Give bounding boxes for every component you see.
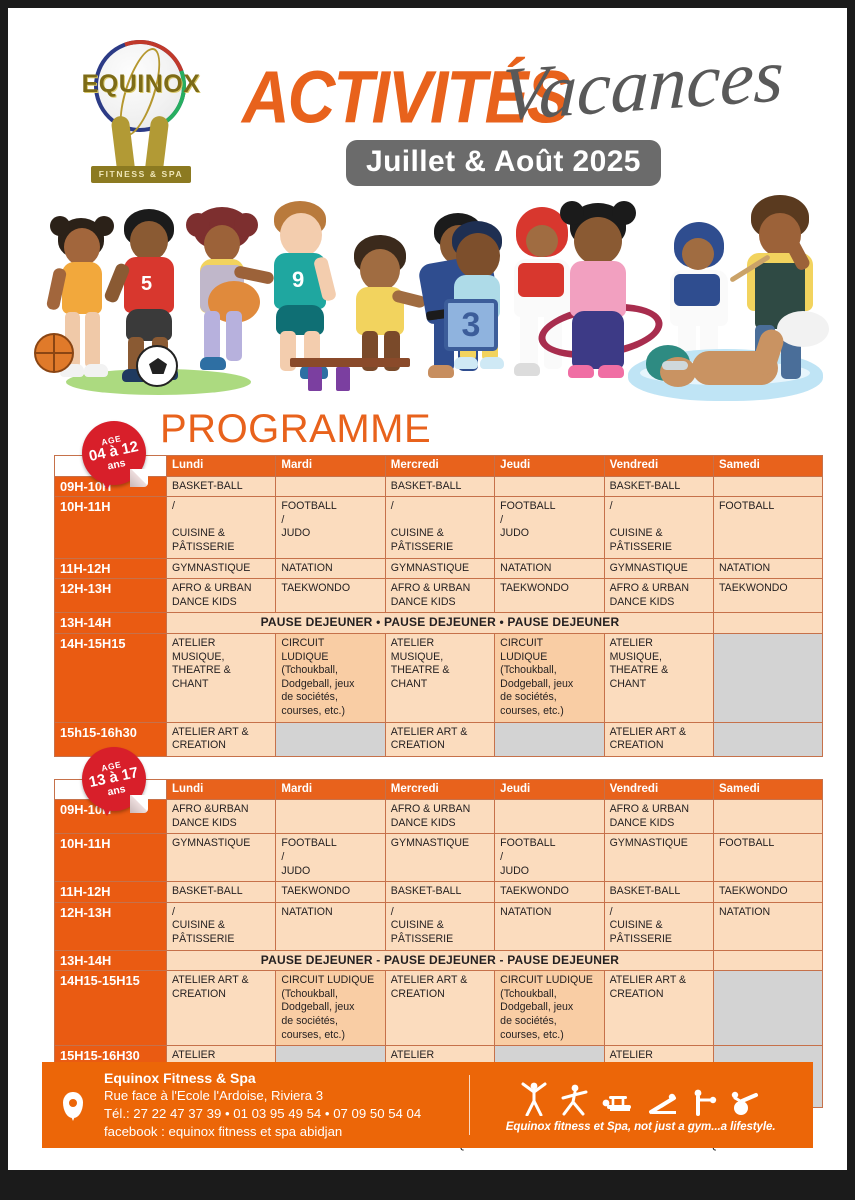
table-row: 10H-11H/ CUISINE & PÂTISSERIEFOOTBALL / …	[55, 497, 823, 558]
activity-cell: FOOTBALL / JUDO	[276, 834, 385, 882]
bench-press-icon	[601, 1092, 635, 1116]
activity-cell: ATELIER ART & CREATION	[385, 971, 494, 1046]
activity-cell: CIRCUIT LUDIQUE (Tchoukball, Dodgeball, …	[276, 971, 385, 1046]
column-header-vendredi: Vendredi	[604, 779, 713, 800]
activity-cell: FOOTBALL / JUDO	[495, 834, 604, 882]
activity-cell: ATELIER ART & CREATION	[604, 971, 713, 1046]
table-header-row: LundiMardiMercrediJeudiVendrediSamedi	[55, 779, 823, 800]
activity-cell: NATATION	[276, 902, 385, 950]
activity-cell: BASKET-BALL	[167, 882, 276, 903]
kid-hula-hoop	[550, 201, 646, 387]
activity-cell: NATATION	[495, 558, 604, 579]
activity-cell: TAEKWONDO	[495, 882, 604, 903]
activity-cell: GYMNASTIQUE	[167, 558, 276, 579]
lunch-break-cell: PAUSE DEJEUNER • PAUSE DEJEUNER • PAUSE …	[167, 613, 714, 634]
activity-cell: AFRO & URBAN DANCE KIDS	[385, 579, 494, 613]
table-row: 11H-12HGYMNASTIQUENATATIONGYMNASTIQUENAT…	[55, 558, 823, 579]
ball-exercise-icon	[730, 1088, 760, 1116]
table-row: 13H-14HPAUSE DEJEUNER - PAUSE DEJEUNER -…	[55, 950, 823, 971]
activity-cell: BASKET-BALL	[604, 882, 713, 903]
table-row: 12H-13HAFRO & URBAN DANCE KIDSTAEKWONDOA…	[55, 579, 823, 613]
activity-cell: / CUISINE & PÂTISSERIE	[604, 902, 713, 950]
activity-cell	[713, 613, 822, 634]
schedule-section-kids: AGE 04 à 12 ans LundiMardiMercrediJeudiV…	[8, 455, 847, 757]
activity-cell: / CUISINE & PÂTISSERIE	[604, 497, 713, 558]
activity-cell: CIRCUIT LUDIQUE (Tchoukball, Dodgeball, …	[276, 633, 385, 722]
closing-message: BONNES VACANCES SCOLAIRES 2025 !!!	[8, 1167, 813, 1170]
soccer-ball-icon	[136, 345, 178, 387]
table-row: 13H-14HPAUSE DEJEUNER • PAUSE DEJEUNER •…	[55, 613, 823, 634]
activity-cell: NATATION	[713, 902, 822, 950]
time-slot-label: 10H-11H	[55, 834, 167, 882]
activity-cell: AFRO & URBAN DANCE KIDS	[167, 579, 276, 613]
jumping-jack-icon	[521, 1082, 547, 1116]
equinox-logo: EQUINOX FITNESS & SPA	[66, 36, 216, 188]
activity-cell: ATELIER MUSIQUE, THEATRE & CHANT	[385, 633, 494, 722]
sticker-curl	[130, 795, 148, 813]
column-header-jeudi: Jeudi	[495, 456, 604, 477]
activity-cell	[495, 722, 604, 756]
children-illustration: 5 9	[8, 177, 847, 409]
footer-contact: Equinox Fitness & Spa Rue face à l'Ecole…	[104, 1069, 421, 1141]
footer-address: Rue face à l'Ecole l'Ardoise, Riviera 3	[104, 1087, 421, 1105]
activity-cell: BASKET-BALL	[385, 476, 494, 497]
footer-phones: Tél.: 27 22 47 37 39 • 01 03 95 49 54 • …	[104, 1105, 421, 1123]
footer-tagline: Equinox fitness et Spa, not just a gym..…	[494, 1120, 787, 1133]
activity-cell: TAEKWONDO	[276, 579, 385, 613]
table-row: 09H-10HAFRO &URBAN DANCE KIDSAFRO & URBA…	[55, 800, 823, 834]
activity-cell: / CUISINE & PÂTISSERIE	[167, 902, 276, 950]
activity-cell	[713, 476, 822, 497]
schedule-table-teens: LundiMardiMercrediJeudiVendrediSamedi 09…	[54, 779, 823, 1108]
column-header-mercredi: Mercredi	[385, 456, 494, 477]
table-row: 12H-13H/ CUISINE & PÂTISSERIENATATION/ C…	[55, 902, 823, 950]
jersey-number-5: 5	[141, 273, 152, 296]
lunge-stretch-icon	[560, 1084, 588, 1116]
footer-business-name: Equinox Fitness & Spa	[104, 1069, 421, 1087]
activity-cell: FOOTBALL	[713, 834, 822, 882]
activity-cell: GYMNASTIQUE	[385, 834, 494, 882]
activity-cell: CIRCUIT LUDIQUE (Tchoukball, Dodgeball, …	[495, 633, 604, 722]
table-row: 15h15-16h30ATELIER ART & CREATIONATELIER…	[55, 722, 823, 756]
poster-page: EQUINOX FITNESS & SPA ACTIVITÉS Vacances…	[8, 8, 847, 1170]
age-badge-04-12: AGE 04 à 12 ans	[82, 421, 146, 485]
activity-cell: CIRCUIT LUDIQUE (Tchoukball, Dodgeball, …	[495, 971, 604, 1046]
column-header-lundi: Lundi	[167, 456, 276, 477]
page-title: PROGRAMME	[160, 407, 431, 452]
activity-cell: FOOTBALL / JUDO	[495, 497, 604, 558]
location-pin-icon	[42, 1092, 104, 1118]
logo-wordmark: EQUINOX	[66, 70, 216, 99]
table-header-row: LundiMardiMercrediJeudiVendrediSamedi	[55, 456, 823, 477]
column-header-samedi: Samedi	[713, 779, 822, 800]
table-row: 10H-11HGYMNASTIQUEFOOTBALL / JUDOGYMNAST…	[55, 834, 823, 882]
activity-cell: BASKET-BALL	[604, 476, 713, 497]
lunch-break-cell: PAUSE DEJEUNER - PAUSE DEJEUNER - PAUSE …	[167, 950, 714, 971]
column-header-lundi: Lundi	[167, 779, 276, 800]
activity-cell: AFRO & URBAN DANCE KIDS	[604, 579, 713, 613]
footer-brand-block: Equinox fitness et Spa, not just a gym..…	[494, 1078, 813, 1133]
activity-cell: / CUISINE & PÂTISSERIE	[385, 497, 494, 558]
time-slot-label: 11H-12H	[55, 882, 167, 903]
time-slot-label: 13H-14H	[55, 950, 167, 971]
activity-cell: TAEKWONDO	[713, 579, 822, 613]
activity-cell	[495, 476, 604, 497]
title-block: ACTIVITÉS Vacances Juillet & Août 2025	[236, 48, 826, 183]
activity-cell	[713, 800, 822, 834]
swim-goggles-icon	[662, 361, 688, 370]
time-slot-label: 12H-13H	[55, 579, 167, 613]
activity-cell: AFRO &URBAN DANCE KIDS	[167, 800, 276, 834]
time-slot-label: 14H-15H15	[55, 633, 167, 722]
column-header-samedi: Samedi	[713, 456, 822, 477]
jersey-number-9: 9	[292, 267, 304, 293]
activity-cell: GYMNASTIQUE	[604, 834, 713, 882]
activity-cell: ATELIER ART & CREATION	[604, 722, 713, 756]
kid-swimmer	[644, 335, 814, 395]
activity-cell	[713, 950, 822, 971]
activity-cell: BASKET-BALL	[167, 476, 276, 497]
time-slot-label: 13H-14H	[55, 613, 167, 634]
activity-cell	[713, 971, 822, 1046]
activity-cell: ATELIER ART & CREATION	[167, 722, 276, 756]
basketball-icon	[34, 333, 74, 373]
activity-cell: NATATION	[713, 558, 822, 579]
activity-cell: GYMNASTIQUE	[385, 558, 494, 579]
table-row: 11H-12HBASKET-BALLTAEKWONDOBASKET-BALLTA…	[55, 882, 823, 903]
activity-cell: TAEKWONDO	[276, 882, 385, 903]
fitness-pictogram-row	[494, 1078, 787, 1116]
paint-cup	[308, 367, 322, 391]
activity-cell: AFRO & URBAN DANCE KIDS	[385, 800, 494, 834]
footer-bar: Equinox Fitness & Spa Rue face à l'Ecole…	[42, 1062, 813, 1148]
activity-cell	[713, 722, 822, 756]
table-row: 14H15-15H15ATELIER ART & CREATIONCIRCUIT…	[55, 971, 823, 1046]
paint-cup	[336, 367, 350, 391]
time-slot-label: 10H-11H	[55, 497, 167, 558]
activity-cell: ATELIER ART & CREATION	[167, 971, 276, 1046]
activity-cell	[276, 722, 385, 756]
poster-header: EQUINOX FITNESS & SPA ACTIVITÉS Vacances…	[8, 8, 847, 183]
kid-guitar	[184, 207, 270, 387]
age-badge-13-17: AGE 13 à 17 ans	[82, 747, 146, 811]
activity-cell	[495, 800, 604, 834]
activity-cell: ATELIER ART & CREATION	[385, 722, 494, 756]
activity-cell: / CUISINE & PÂTISSERIE	[385, 902, 494, 950]
title-vacances: Vacances	[500, 32, 785, 139]
age-badge-unit: ans	[106, 457, 126, 472]
column-header-mercredi: Mercredi	[385, 779, 494, 800]
activity-cell: BASKET-BALL	[385, 882, 494, 903]
footer-facebook[interactable]: facebook : equinox fitness et spa abidja…	[104, 1123, 421, 1141]
activity-cell: ATELIER MUSIQUE, THEATRE & CHANT	[167, 633, 276, 722]
craft-table	[290, 358, 410, 367]
column-header-mardi: Mardi	[276, 779, 385, 800]
activity-cell: FOOTBALL	[713, 497, 822, 558]
activity-cell	[276, 476, 385, 497]
activity-cell: / CUISINE & PÂTISSERIE	[167, 497, 276, 558]
activity-cell: FOOTBALL / JUDO	[276, 497, 385, 558]
incline-situp-icon	[648, 1092, 680, 1116]
time-slot-label: 11H-12H	[55, 558, 167, 579]
time-slot-label: 14H15-15H15	[55, 971, 167, 1046]
schedule-section-teens: AGE 13 à 17 ans LundiMardiMercrediJeudiV…	[8, 779, 847, 1108]
table-row: 09H-10HBASKET-BALLBASKET-BALLBASKET-BALL	[55, 476, 823, 497]
column-header-mardi: Mardi	[276, 456, 385, 477]
table-row: 14H-15H15ATELIER MUSIQUE, THEATRE & CHAN…	[55, 633, 823, 722]
activity-cell: NATATION	[495, 902, 604, 950]
footer-divider	[469, 1075, 470, 1135]
age-badge-unit: ans	[106, 783, 126, 798]
activity-cell: TAEKWONDO	[713, 882, 822, 903]
activity-cell: TAEKWONDO	[495, 579, 604, 613]
column-header-jeudi: Jeudi	[495, 779, 604, 800]
activity-cell: ATELIER MUSIQUE, THEATRE & CHANT	[604, 633, 713, 722]
column-header-vendredi: Vendredi	[604, 456, 713, 477]
schedule-table-kids: LundiMardiMercrediJeudiVendrediSamedi 09…	[54, 455, 823, 757]
activity-cell: NATATION	[276, 558, 385, 579]
activity-cell: GYMNASTIQUE	[167, 834, 276, 882]
sticker-curl	[130, 469, 148, 487]
activity-cell: GYMNASTIQUE	[604, 558, 713, 579]
activity-cell	[713, 633, 822, 722]
time-slot-label: 12H-13H	[55, 902, 167, 950]
activity-cell	[276, 800, 385, 834]
sign-number-3: 3	[444, 299, 498, 351]
kettlebell-swing-icon	[693, 1088, 717, 1116]
activity-cell: AFRO & URBAN DANCE KIDS	[604, 800, 713, 834]
